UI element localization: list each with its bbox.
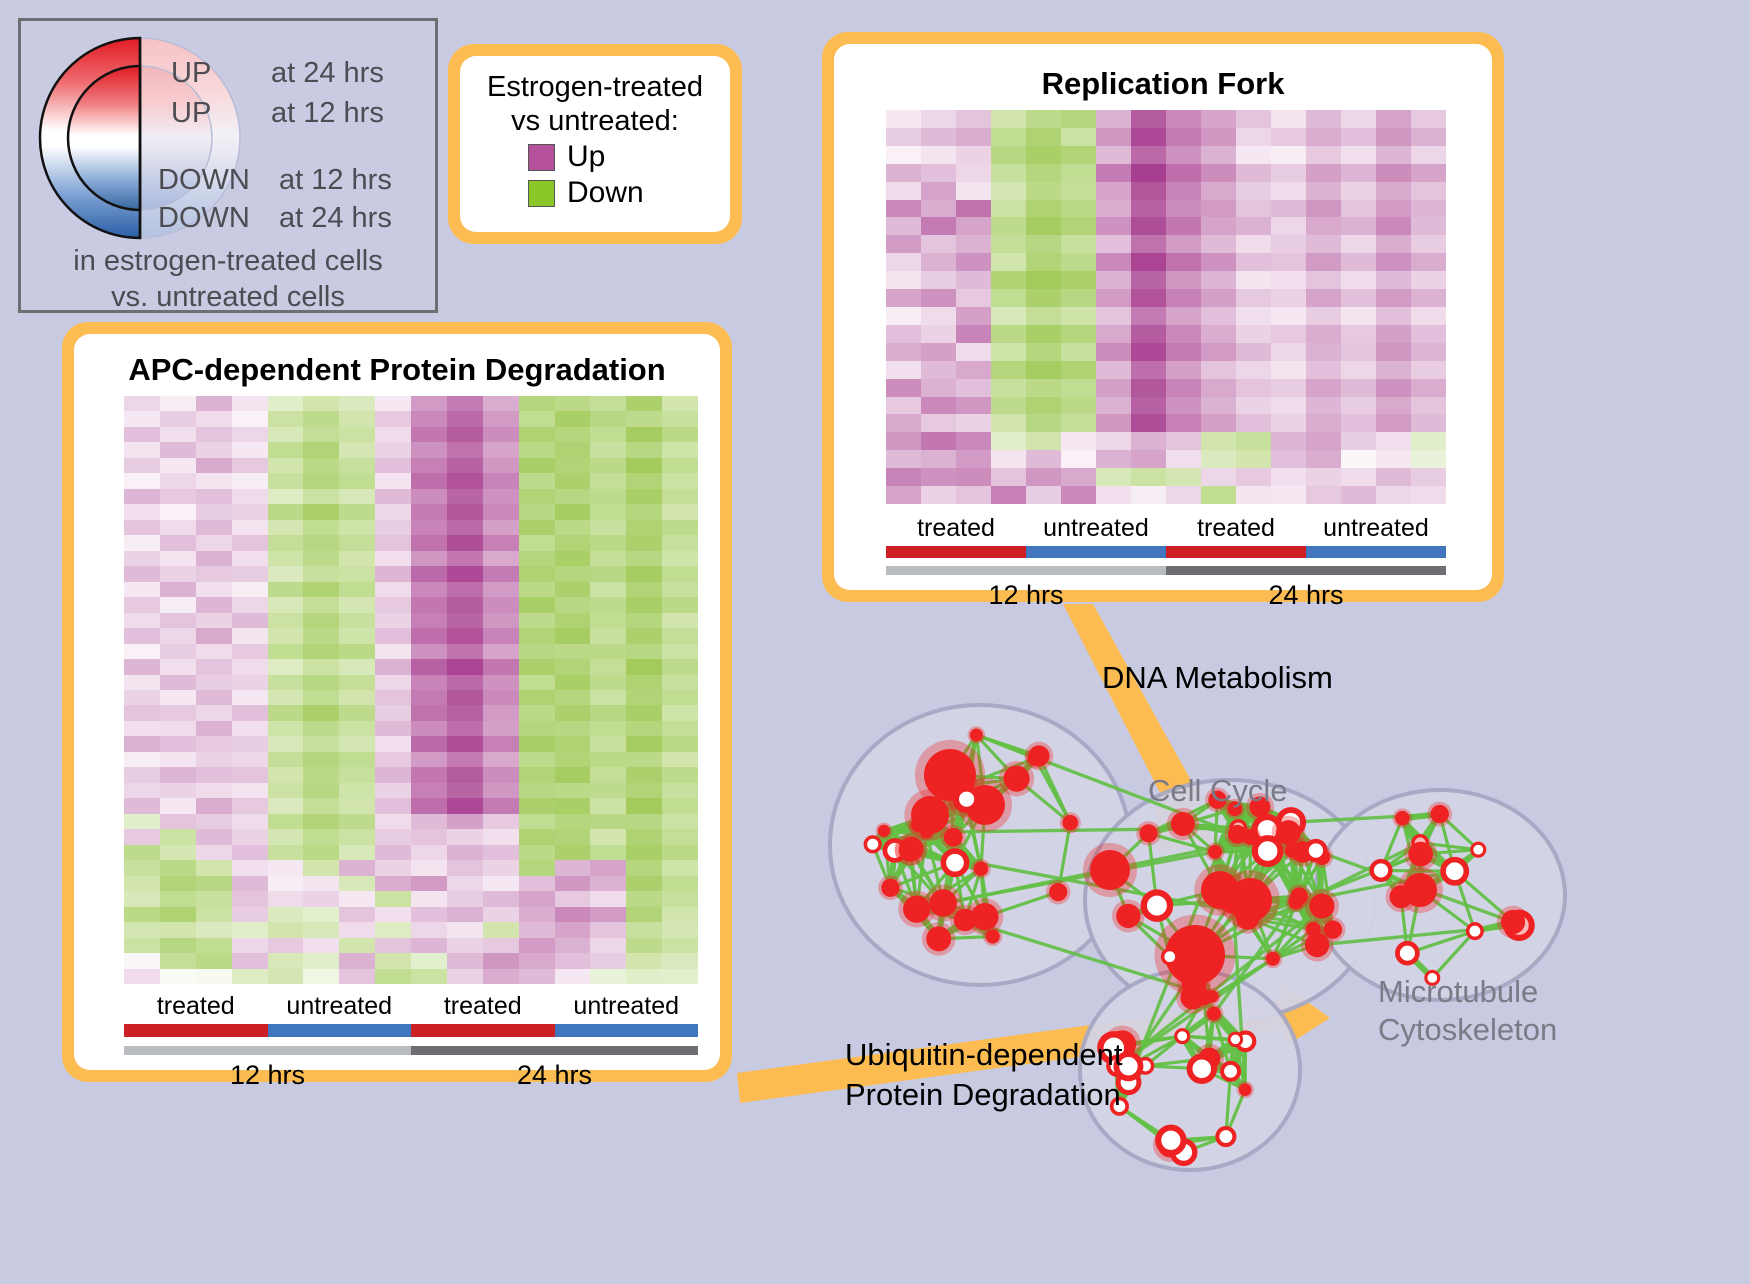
- heat-cell: [662, 597, 698, 612]
- heat-cell: [1096, 235, 1131, 253]
- heat-cell: [886, 128, 921, 146]
- heat-cell: [590, 489, 626, 504]
- heat-cell: [1236, 182, 1271, 200]
- heat-cell: [303, 705, 339, 720]
- heat-cell: [411, 411, 447, 426]
- heat-cell: [339, 736, 375, 751]
- heat-cell: [196, 427, 232, 442]
- heat-cell: [339, 458, 375, 473]
- heat-cell: [447, 845, 483, 860]
- heat-cell: [303, 659, 339, 674]
- heat-cell: [555, 520, 591, 535]
- heat-cell: [626, 705, 662, 720]
- heat-cell: [375, 582, 411, 597]
- heat-cell: [1061, 182, 1096, 200]
- heat-cell: [886, 450, 921, 468]
- heat-cell: [590, 427, 626, 442]
- heat-cell: [991, 468, 1026, 486]
- heat-cell: [303, 876, 339, 891]
- heat-cell: [1096, 361, 1131, 379]
- heat-cell: [1411, 128, 1446, 146]
- apc-time-labels: 12 hrs 24 hrs: [124, 1060, 698, 1091]
- heat-cell: [626, 473, 662, 488]
- condition-bar-segment: [1166, 546, 1306, 558]
- heat-cell: [160, 953, 196, 968]
- cluster-label-cell-cycle: Cell Cycle: [1148, 773, 1288, 809]
- heat-cell: [339, 566, 375, 581]
- heat-cell: [1306, 217, 1341, 235]
- heat-cell: [411, 705, 447, 720]
- heat-cell: [590, 876, 626, 891]
- heat-cell: [1271, 397, 1306, 415]
- heat-cell: [411, 690, 447, 705]
- heat-cell: [886, 217, 921, 235]
- network-node: [1395, 811, 1410, 826]
- heat-cell: [662, 891, 698, 906]
- heat-cell: [375, 736, 411, 751]
- heat-cell: [1236, 432, 1271, 450]
- heat-cell: [160, 752, 196, 767]
- key-legend-panel: Estrogen-treated vs untreated: Up Down: [448, 44, 742, 244]
- heat-cell: [1166, 289, 1201, 307]
- heat-cell: [303, 566, 339, 581]
- replication-fork-condition-labels: treated untreated treated untreated: [886, 514, 1446, 543]
- heat-cell: [160, 535, 196, 550]
- heat-cell: [339, 473, 375, 488]
- heat-cell: [411, 613, 447, 628]
- heat-cell: [411, 504, 447, 519]
- apc-time-bar: [124, 1046, 698, 1055]
- heat-cell: [1061, 200, 1096, 218]
- heat-cell: [124, 752, 160, 767]
- heat-cell: [626, 845, 662, 860]
- heat-cell: [662, 953, 698, 968]
- heat-cell: [1061, 217, 1096, 235]
- heat-cell: [303, 597, 339, 612]
- network-node: [1090, 850, 1130, 890]
- heat-cell: [1341, 343, 1376, 361]
- heat-cell: [1271, 343, 1306, 361]
- network-node: [970, 729, 983, 742]
- circle-legend-row-3-label: DOWN: [158, 202, 250, 235]
- heat-cell: [232, 860, 268, 875]
- heat-cell: [375, 891, 411, 906]
- heat-cell: [590, 396, 626, 411]
- heat-cell: [1341, 307, 1376, 325]
- heat-cell: [956, 468, 991, 486]
- heat-cell: [411, 860, 447, 875]
- network-node: [899, 839, 921, 861]
- heat-cell: [339, 783, 375, 798]
- heat-cell: [626, 891, 662, 906]
- heat-cell: [196, 473, 232, 488]
- heat-cell: [886, 486, 921, 504]
- heat-cell: [1201, 343, 1236, 361]
- heat-cell: [1306, 235, 1341, 253]
- heat-cell: [921, 468, 956, 486]
- heat-cell: [626, 953, 662, 968]
- heat-cell: [1026, 432, 1061, 450]
- heat-cell: [268, 520, 304, 535]
- heat-cell: [375, 520, 411, 535]
- heat-cell: [1026, 450, 1061, 468]
- heat-cell: [160, 442, 196, 457]
- heat-cell: [483, 597, 519, 612]
- heat-cell: [1271, 146, 1306, 164]
- heat-cell: [1201, 271, 1236, 289]
- heat-cell: [447, 891, 483, 906]
- heat-cell: [662, 736, 698, 751]
- heat-cell: [555, 535, 591, 550]
- heat-cell: [160, 969, 196, 984]
- heat-cell: [886, 146, 921, 164]
- heat-cell: [1061, 289, 1096, 307]
- heat-cell: [956, 110, 991, 128]
- heat-cell: [956, 325, 991, 343]
- heat-cell: [886, 164, 921, 182]
- heat-cell: [268, 953, 304, 968]
- heat-cell: [1236, 200, 1271, 218]
- heat-cell: [1271, 432, 1306, 450]
- heat-cell: [268, 721, 304, 736]
- heat-cell: [160, 644, 196, 659]
- heat-cell: [519, 582, 555, 597]
- heat-cell: [1026, 361, 1061, 379]
- heat-cell: [160, 582, 196, 597]
- heat-cell: [590, 566, 626, 581]
- heat-cell: [662, 814, 698, 829]
- heat-cell: [1131, 235, 1166, 253]
- heat-cell: [303, 767, 339, 782]
- apc-heatmap: [124, 396, 698, 984]
- network-node: [1397, 943, 1417, 963]
- heat-cell: [956, 271, 991, 289]
- heat-cell: [303, 860, 339, 875]
- heat-cell: [1096, 164, 1131, 182]
- heat-cell: [662, 783, 698, 798]
- heat-cell: [160, 396, 196, 411]
- heat-cell: [1166, 486, 1201, 504]
- heat-cell: [956, 235, 991, 253]
- heat-cell: [626, 427, 662, 442]
- heat-cell: [124, 644, 160, 659]
- heat-cell: [124, 659, 160, 674]
- heat-cell: [555, 427, 591, 442]
- heat-cell: [160, 675, 196, 690]
- heat-cell: [268, 907, 304, 922]
- heat-cell: [590, 473, 626, 488]
- heat-cell: [339, 845, 375, 860]
- heat-cell: [1236, 325, 1271, 343]
- heat-cell: [232, 442, 268, 457]
- heat-cell: [662, 396, 698, 411]
- heat-cell: [1131, 325, 1166, 343]
- heat-cell: [1061, 253, 1096, 271]
- heat-cell: [196, 814, 232, 829]
- heat-cell: [1026, 128, 1061, 146]
- heat-cell: [339, 767, 375, 782]
- heat-cell: [447, 675, 483, 690]
- heat-cell: [1026, 110, 1061, 128]
- heat-cell: [339, 922, 375, 937]
- heat-cell: [232, 783, 268, 798]
- heat-cell: [662, 535, 698, 550]
- heat-cell: [626, 551, 662, 566]
- heat-cell: [662, 520, 698, 535]
- heat-cell: [124, 442, 160, 457]
- heat-cell: [1306, 128, 1341, 146]
- network-node: [1208, 845, 1222, 859]
- heat-cell: [375, 489, 411, 504]
- heat-cell: [232, 551, 268, 566]
- heat-cell: [1096, 432, 1131, 450]
- heat-cell: [124, 458, 160, 473]
- heat-cell: [921, 343, 956, 361]
- heat-cell: [303, 752, 339, 767]
- heat-cell: [232, 473, 268, 488]
- heat-cell: [626, 860, 662, 875]
- heat-cell: [268, 860, 304, 875]
- heat-cell: [991, 307, 1026, 325]
- heat-cell: [1131, 343, 1166, 361]
- heat-cell: [1411, 182, 1446, 200]
- heat-cell: [1026, 253, 1061, 271]
- heat-cell: [375, 798, 411, 813]
- heat-cell: [956, 343, 991, 361]
- heat-cell: [196, 411, 232, 426]
- heat-cell: [1271, 271, 1306, 289]
- heat-cell: [1271, 110, 1306, 128]
- network-node: [1217, 1128, 1234, 1145]
- heat-cell: [124, 473, 160, 488]
- heat-cell: [1166, 414, 1201, 432]
- heat-cell: [1026, 200, 1061, 218]
- heat-cell: [232, 628, 268, 643]
- heat-cell: [268, 442, 304, 457]
- heat-cell: [1236, 289, 1271, 307]
- heat-cell: [1061, 361, 1096, 379]
- heat-cell: [956, 164, 991, 182]
- heat-cell: [196, 845, 232, 860]
- heat-cell: [626, 644, 662, 659]
- heat-cell: [268, 845, 304, 860]
- heat-cell: [662, 644, 698, 659]
- heat-cell: [1166, 110, 1201, 128]
- heat-cell: [1376, 289, 1411, 307]
- heat-cell: [991, 397, 1026, 415]
- heat-cell: [196, 938, 232, 953]
- heat-cell: [956, 253, 991, 271]
- heat-cell: [921, 361, 956, 379]
- heat-cell: [1376, 432, 1411, 450]
- apc-condition-label-3: untreated: [555, 992, 699, 1021]
- heat-cell: [268, 690, 304, 705]
- heat-cell: [124, 551, 160, 566]
- heat-cell: [160, 458, 196, 473]
- heat-cell: [483, 628, 519, 643]
- heat-cell: [1201, 128, 1236, 146]
- heat-cell: [483, 891, 519, 906]
- heat-cell: [1341, 128, 1376, 146]
- heat-cell: [590, 736, 626, 751]
- heat-cell: [519, 396, 555, 411]
- heat-cell: [555, 597, 591, 612]
- circle-legend-row-3-time: at 24 hrs: [279, 202, 392, 235]
- heat-cell: [160, 891, 196, 906]
- heat-cell: [1271, 307, 1306, 325]
- heat-cell: [1236, 128, 1271, 146]
- heat-cell: [555, 504, 591, 519]
- heat-cell: [1341, 164, 1376, 182]
- heat-cell: [519, 907, 555, 922]
- heat-cell: [921, 414, 956, 432]
- heat-cell: [411, 814, 447, 829]
- heat-cell: [991, 271, 1026, 289]
- heat-cell: [1026, 235, 1061, 253]
- heat-cell: [483, 798, 519, 813]
- condition-bar-segment: [1306, 546, 1446, 558]
- heat-cell: [303, 829, 339, 844]
- heat-cell: [232, 736, 268, 751]
- heat-cell: [124, 845, 160, 860]
- heat-cell: [590, 504, 626, 519]
- heat-cell: [232, 566, 268, 581]
- heat-cell: [124, 613, 160, 628]
- heat-cell: [1201, 110, 1236, 128]
- heat-cell: [1026, 217, 1061, 235]
- heat-cell: [1201, 414, 1236, 432]
- heat-cell: [339, 891, 375, 906]
- heat-cell: [1026, 182, 1061, 200]
- heat-cell: [411, 458, 447, 473]
- heat-cell: [662, 473, 698, 488]
- heat-cell: [519, 597, 555, 612]
- heat-cell: [124, 783, 160, 798]
- heat-cell: [590, 938, 626, 953]
- heat-cell: [160, 551, 196, 566]
- heat-cell: [447, 582, 483, 597]
- heat-cell: [1271, 325, 1306, 343]
- circle-legend-footnote: in estrogen-treated cells vs. untreated …: [21, 243, 435, 315]
- heat-cell: [411, 798, 447, 813]
- heat-cell: [1376, 414, 1411, 432]
- heat-cell: [232, 798, 268, 813]
- heat-cell: [662, 690, 698, 705]
- heat-cell: [1096, 325, 1131, 343]
- heat-cell: [1376, 146, 1411, 164]
- heat-cell: [1306, 361, 1341, 379]
- heat-cell: [1166, 307, 1201, 325]
- heat-cell: [483, 582, 519, 597]
- heat-cell: [626, 798, 662, 813]
- heat-cell: [411, 752, 447, 767]
- heat-cell: [1061, 343, 1096, 361]
- heat-cell: [1096, 289, 1131, 307]
- heat-cell: [232, 427, 268, 442]
- heat-cell: [268, 473, 304, 488]
- heat-cell: [1096, 414, 1131, 432]
- heat-cell: [1096, 468, 1131, 486]
- heat-cell: [1306, 325, 1341, 343]
- heat-cell: [124, 520, 160, 535]
- heat-cell: [339, 860, 375, 875]
- heat-cell: [519, 721, 555, 736]
- heat-cell: [1271, 253, 1306, 271]
- heat-cell: [1026, 325, 1061, 343]
- network-node: [1430, 805, 1448, 823]
- heat-cell: [1376, 271, 1411, 289]
- heat-cell: [303, 411, 339, 426]
- heat-cell: [1131, 432, 1166, 450]
- key-legend-item-up-label: Up: [567, 140, 605, 174]
- heat-cell: [411, 427, 447, 442]
- condition-bar-segment: [555, 1024, 699, 1037]
- network-node: [1408, 842, 1433, 867]
- heat-cell: [590, 613, 626, 628]
- heat-cell: [411, 551, 447, 566]
- heat-cell: [1061, 325, 1096, 343]
- heat-cell: [886, 200, 921, 218]
- apc-condition-label-0: treated: [124, 992, 268, 1021]
- heat-cell: [1096, 271, 1131, 289]
- heat-cell: [1201, 217, 1236, 235]
- heat-cell: [268, 489, 304, 504]
- condition-bar-segment: [268, 1024, 412, 1037]
- heat-cell: [1061, 110, 1096, 128]
- heat-cell: [1131, 486, 1166, 504]
- heat-cell: [268, 628, 304, 643]
- heat-cell: [555, 396, 591, 411]
- apc-time-label-1: 24 hrs: [411, 1060, 698, 1091]
- heat-cell: [1061, 146, 1096, 164]
- heat-cell: [555, 628, 591, 643]
- heat-cell: [160, 721, 196, 736]
- heat-cell: [483, 752, 519, 767]
- heat-cell: [483, 675, 519, 690]
- heat-cell: [196, 860, 232, 875]
- heat-cell: [1131, 253, 1166, 271]
- heat-cell: [662, 938, 698, 953]
- heat-cell: [447, 922, 483, 937]
- heat-cell: [1411, 253, 1446, 271]
- heat-cell: [447, 473, 483, 488]
- heat-cell: [196, 613, 232, 628]
- heat-cell: [519, 504, 555, 519]
- heat-cell: [160, 798, 196, 813]
- heat-cell: [1166, 325, 1201, 343]
- heat-cell: [519, 922, 555, 937]
- heat-cell: [1201, 450, 1236, 468]
- heat-cell: [1201, 486, 1236, 504]
- heat-cell: [447, 613, 483, 628]
- heat-cell: [956, 379, 991, 397]
- heat-cell: [339, 721, 375, 736]
- heat-cell: [232, 922, 268, 937]
- heat-cell: [1236, 235, 1271, 253]
- heat-cell: [662, 628, 698, 643]
- heat-cell: [411, 907, 447, 922]
- heat-cell: [921, 110, 956, 128]
- heat-cell: [303, 814, 339, 829]
- heat-cell: [662, 613, 698, 628]
- heat-cell: [662, 582, 698, 597]
- heat-cell: [662, 458, 698, 473]
- heat-cell: [411, 396, 447, 411]
- heat-cell: [232, 520, 268, 535]
- heat-cell: [1166, 397, 1201, 415]
- heat-cell: [411, 736, 447, 751]
- heat-cell: [626, 907, 662, 922]
